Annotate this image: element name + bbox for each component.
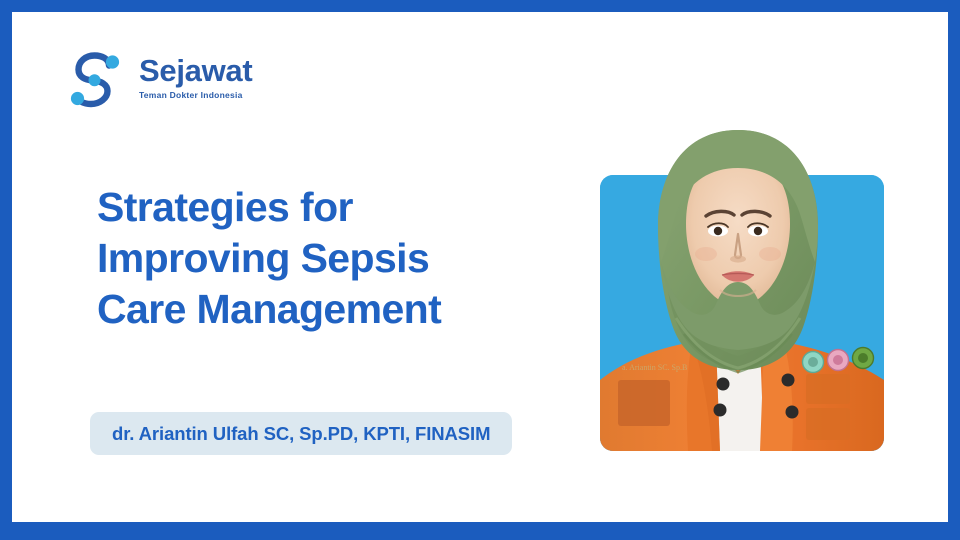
sejawat-s-logo-mark-icon — [69, 52, 121, 108]
svg-text:a. Ariantin SC. Sp.B: a. Ariantin SC. Sp.B — [622, 363, 687, 372]
slide-title: Strategies for Improving Sepsis Care Man… — [97, 182, 567, 335]
slide-title-line-1: Strategies for — [97, 182, 567, 233]
portrait-photo: a. Ariantin SC. Sp.B — [588, 112, 888, 452]
brand-name: Sejawat — [139, 54, 289, 88]
brand-logo-text: Sejawat Teman Dokter Indonesia — [139, 54, 289, 101]
brand-tagline: Teman Dokter Indonesia — [139, 89, 289, 101]
slide-frame: Sejawat Teman Dokter Indonesia Strategie… — [0, 0, 960, 540]
speaker-name-banner: dr. Ariantin Ulfah SC, Sp.PD, KPTI, FINA… — [90, 412, 512, 455]
slide-content: Sejawat Teman Dokter Indonesia Strategie… — [12, 12, 948, 522]
slide-title-line-3: Care Management — [97, 284, 567, 335]
slide-title-line-2: Improving Sepsis — [97, 233, 567, 284]
brand-logo: Sejawat Teman Dokter Indonesia — [59, 44, 289, 116]
speaker-name: dr. Ariantin Ulfah SC, Sp.PD, KPTI, FINA… — [112, 423, 490, 445]
speaker-portrait: a. Ariantin SC. Sp.B — [588, 112, 888, 452]
